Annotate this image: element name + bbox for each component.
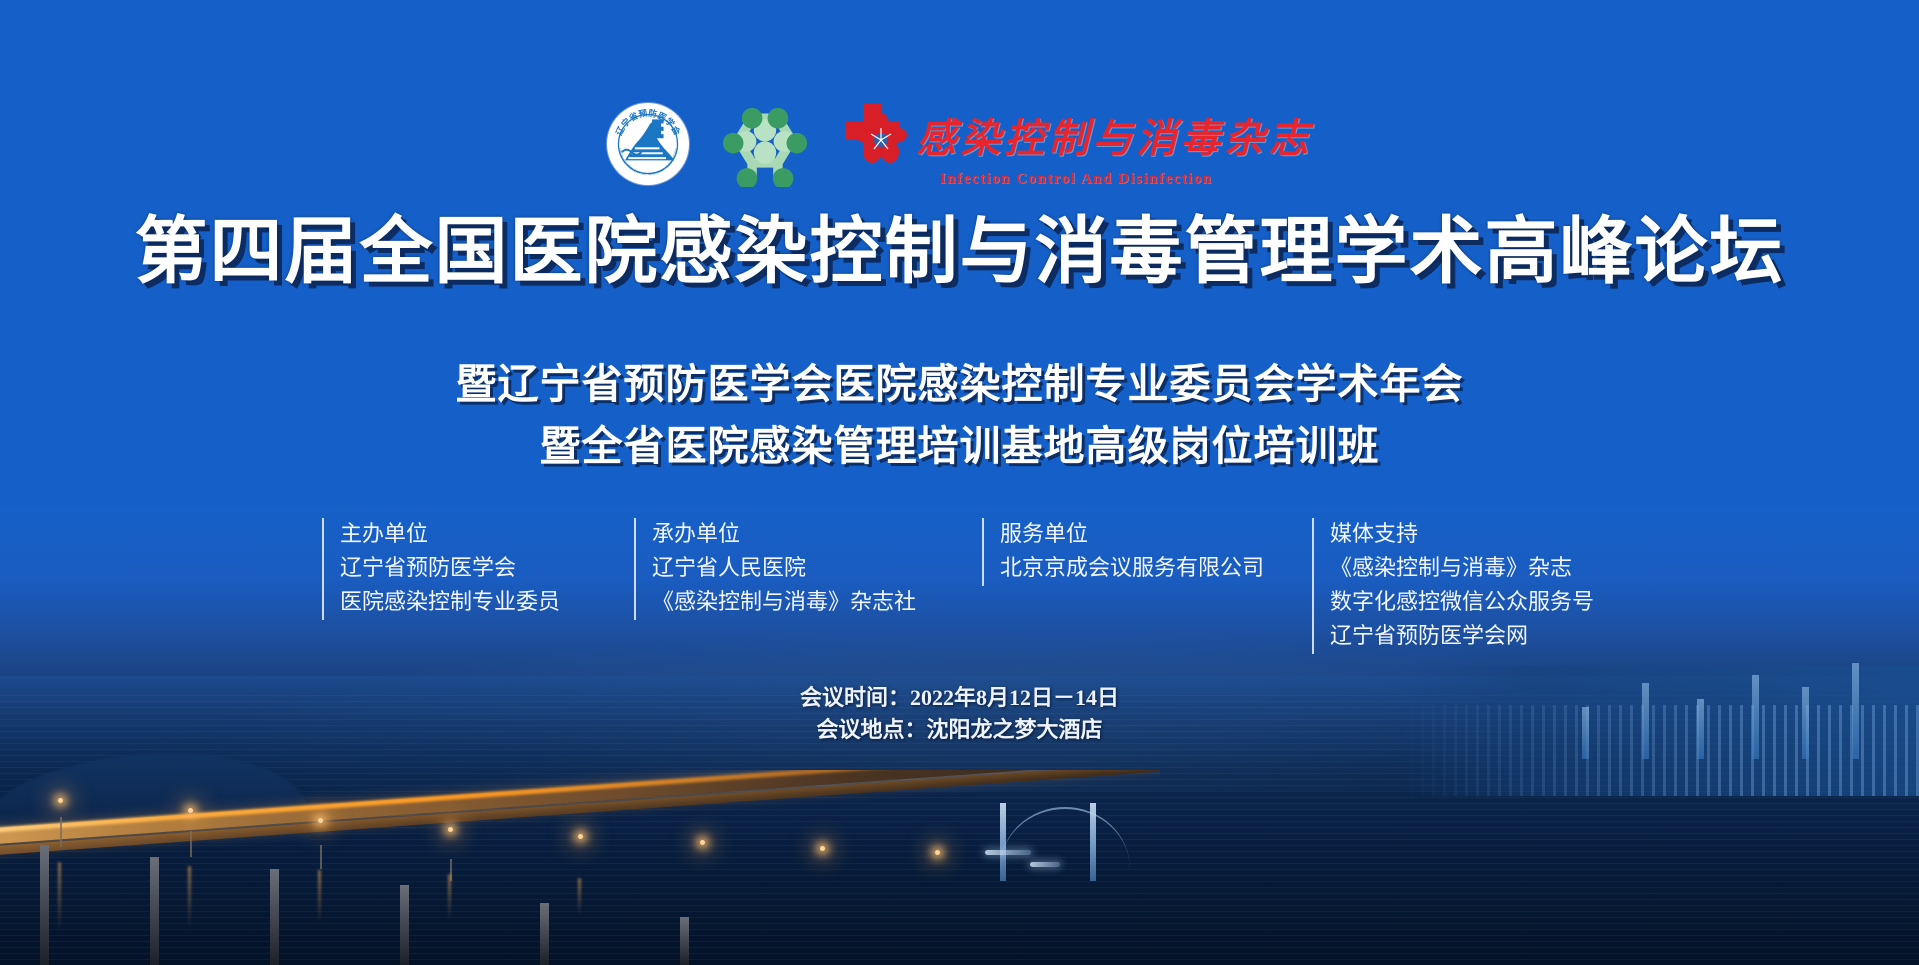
logo-row: 辽宁省预防医学会 LIAONING PREVENTIVE MEDICINE AS…: [0, 100, 1919, 188]
organizer-line: 《感染控制与消毒》杂志: [1330, 552, 1594, 586]
page-title: 第四届全国医院感染控制与消毒管理学术高峰论坛: [0, 192, 1919, 298]
journal-title-cn: 感染控制与消毒杂志: [917, 106, 1313, 164]
organizer-column-media: 媒体支持 《感染控制与消毒》杂志 数字化感控微信公众服务号 辽宁省预防医学会网: [1312, 518, 1594, 654]
organizer-line: 辽宁省预防医学会网: [1330, 620, 1594, 654]
organizer-columns: 主办单位 辽宁省预防医学会 医院感染控制专业委员 承办单位 辽宁省人民医院 《感…: [322, 518, 1622, 654]
organizer-heading: 媒体支持: [1330, 518, 1594, 552]
conference-venue: 会议地点：沈阳龙之梦大酒店: [0, 714, 1919, 746]
subtitle-line-2: 暨全省医院感染管理培训基地高级岗位培训班: [0, 412, 1919, 472]
organizer-line: 医院感染控制专业委员: [340, 586, 634, 620]
organizer-line: 《感染控制与消毒》杂志社: [652, 586, 982, 620]
organizer-column-service: 服务单位 北京京成会议服务有限公司: [982, 518, 1312, 586]
organizer-line: 数字化感控微信公众服务号: [1330, 586, 1594, 620]
organizer-line: 辽宁省预防医学会: [340, 552, 634, 586]
organizer-heading: 服务单位: [1000, 518, 1312, 552]
organizer-heading: 承办单位: [652, 518, 982, 552]
organizer-column-undertaker: 承办单位 辽宁省人民医院 《感染控制与消毒》杂志社: [634, 518, 982, 620]
conference-date: 会议时间：2022年8月12日－14日: [0, 682, 1919, 714]
organizer-line: 北京京成会议服务有限公司: [1000, 552, 1312, 586]
conference-banner: 辽宁省预防医学会 LIAONING PREVENTIVE MEDICINE AS…: [0, 0, 1919, 965]
conference-meta: 会议时间：2022年8月12日－14日 会议地点：沈阳龙之梦大酒店: [0, 682, 1919, 746]
infection-control-and-disinfection-journal-logo: 感染控制与消毒杂志 Infection Control And Disinfec…: [841, 100, 1313, 188]
journal-title-en: Infection Control And Disinfection: [940, 171, 1213, 188]
subtitle-line-1: 暨辽宁省预防医学会医院感染控制专业委员会学术年会: [0, 350, 1919, 410]
molecule-network-emblem: [717, 101, 813, 187]
organizer-heading: 主办单位: [340, 518, 634, 552]
organizer-column-host: 主办单位 辽宁省预防医学会 医院感染控制专业委员: [322, 518, 634, 620]
liaoning-preventive-medicine-association-emblem: 辽宁省预防医学会 LIAONING PREVENTIVE MEDICINE AS…: [607, 103, 689, 185]
red-cross-flower-icon: [841, 100, 911, 170]
organizer-line: 辽宁省人民医院: [652, 552, 982, 586]
